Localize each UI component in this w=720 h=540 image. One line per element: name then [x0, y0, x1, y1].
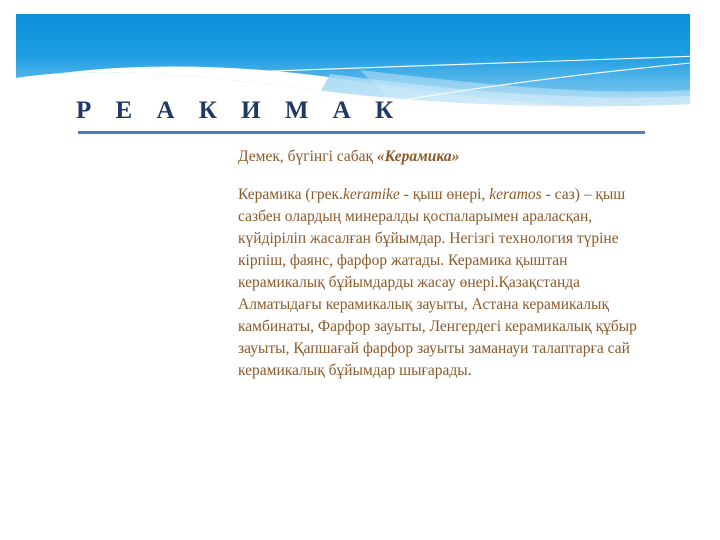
definition-part-2: - қыш өнері, — [400, 186, 489, 203]
banner-base-shape — [16, 14, 690, 106]
slide-body: Демек, бүгінгі сабақ «Керамика» Керамика… — [238, 146, 638, 382]
lead-sentence: Демек, бүгінгі сабақ «Керамика» — [238, 146, 638, 168]
page-title: Р Е А К И М А К — [76, 96, 402, 126]
lesson-topic-term: «Керамика» — [377, 148, 459, 165]
lead-prefix: Демек, бүгінгі сабақ — [238, 148, 377, 165]
definition-part-3: - саз) – қыш сазбен олардың минералды қо… — [238, 186, 637, 379]
definition-part-1: Керамика (грек. — [238, 186, 343, 203]
title-underline-rule — [78, 131, 645, 134]
latin-term-keramike: keramike — [343, 186, 400, 203]
latin-term-keramos: keramos — [489, 186, 542, 203]
definition-paragraph: Керамика (грек.keramike - қыш өнері, ker… — [238, 184, 638, 382]
